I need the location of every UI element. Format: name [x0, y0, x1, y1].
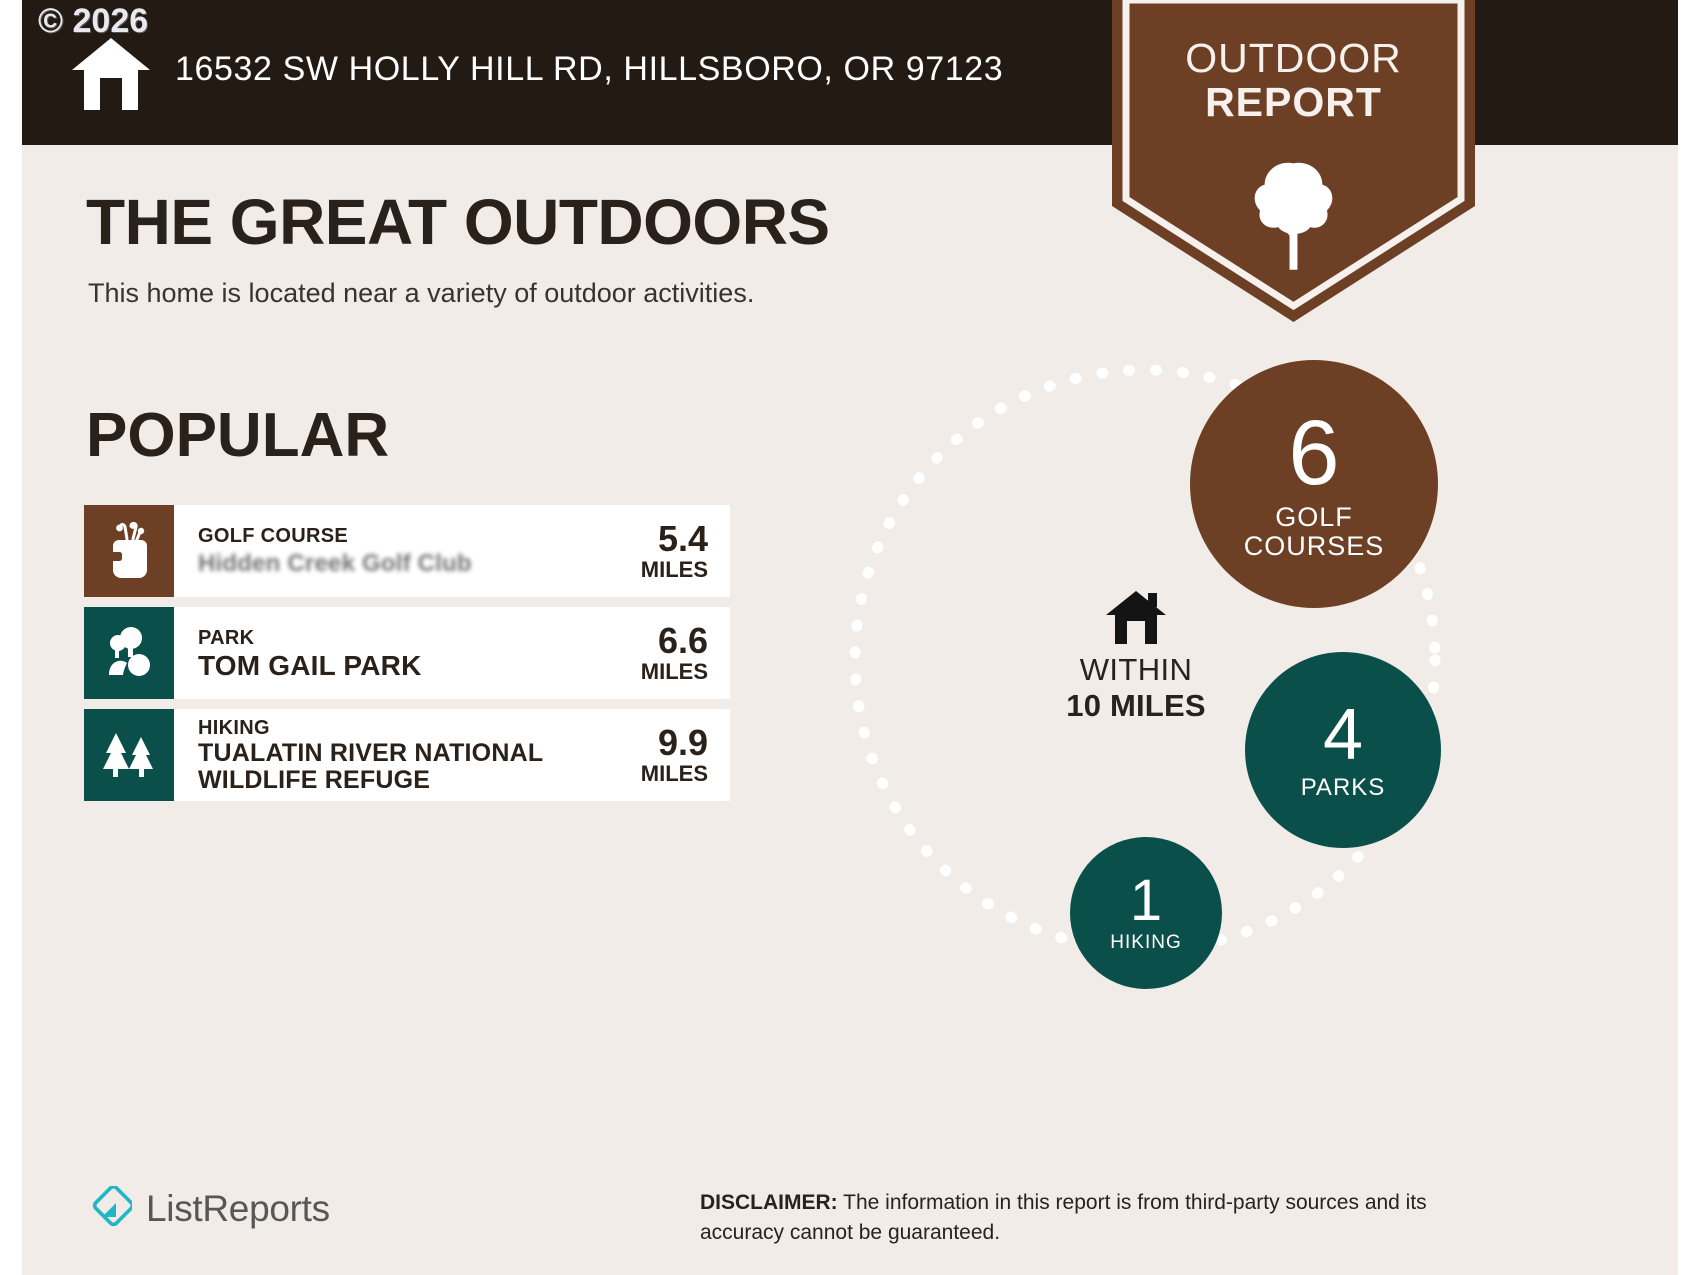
disclaimer-label: DISCLAIMER: — [700, 1191, 838, 1214]
page-margin-left — [0, 0, 22, 1275]
stat-bubble-golf-courses[interactable]: 6 GOLF COURSES — [1190, 360, 1438, 608]
list-item-name: TOM GAIL PARK — [198, 650, 422, 681]
list-item-distance: 6.6 MILES — [588, 607, 730, 699]
list-item-name-redacted: Hidden Creek Golf Club — [198, 548, 472, 579]
list-item-text: HIKING TUALATIN RIVER NATIONAL WILDLIFE … — [174, 709, 588, 801]
listreports-logo[interactable]: ListReports — [86, 1186, 330, 1232]
distance-unit: MILES — [588, 660, 708, 684]
golf-bag-icon — [84, 505, 174, 597]
list-item-category: PARK — [198, 626, 422, 650]
distance-value: 5.4 — [588, 520, 708, 558]
outdoor-report-page: © 2026 16532 SW HOLLY HILL RD, HILLSBORO… — [0, 0, 1700, 1275]
listreports-logo-text: ListReports — [146, 1188, 330, 1230]
list-item[interactable]: PARK TOM GAIL PARK 6.6 MILES — [84, 607, 730, 699]
home-icon — [1105, 590, 1167, 646]
stat-label: HIKING — [1110, 933, 1181, 954]
section-title-popular: POPULAR — [86, 400, 389, 471]
page-title: THE GREAT OUTDOORS — [86, 185, 830, 259]
stat-label-line1: GOLF — [1244, 503, 1385, 532]
distance-value: 6.6 — [588, 622, 708, 660]
popular-places-list: GOLF COURSE Hidden Creek Golf Club 5.4 M… — [84, 505, 730, 811]
distance-unit: MILES — [588, 762, 708, 786]
outdoor-report-badge: OUTDOOR REPORT — [1112, 0, 1475, 322]
page-margin-right — [1678, 0, 1700, 1275]
list-item-text: GOLF COURSE Hidden Creek Golf Club — [174, 505, 588, 597]
center-label-line2: 10 MILES — [1016, 688, 1256, 724]
home-icon — [70, 36, 152, 112]
listreports-house-icon — [86, 1186, 132, 1232]
within-10-miles-infographic: 6 GOLF COURSES 4 PARKS 1 HIKING WITHIN 1… — [820, 340, 1520, 1020]
badge-title: OUTDOOR REPORT — [1112, 36, 1475, 124]
center-label-line1: WITHIN — [1016, 652, 1256, 688]
copyright-watermark: © 2026 — [38, 2, 148, 41]
list-item-category: HIKING — [198, 716, 588, 740]
stat-label: PARKS — [1301, 775, 1386, 801]
list-item-text: PARK TOM GAIL PARK — [174, 607, 588, 699]
disclaimer: DISCLAIMER: The information in this repo… — [700, 1188, 1500, 1248]
infographic-center-label: WITHIN 10 MILES — [1016, 590, 1256, 724]
stat-label-line2: COURSES — [1244, 532, 1385, 561]
badge-title-line1: OUTDOOR — [1112, 36, 1475, 80]
stat-count: 1 — [1130, 872, 1162, 930]
list-item[interactable]: HIKING TUALATIN RIVER NATIONAL WILDLIFE … — [84, 709, 730, 801]
page-subtitle: This home is located near a variety of o… — [88, 278, 754, 309]
stat-count: 4 — [1323, 699, 1363, 771]
pine-trees-icon — [84, 709, 174, 801]
stat-bubble-parks[interactable]: 4 PARKS — [1245, 652, 1441, 848]
stat-count: 6 — [1288, 407, 1339, 499]
stat-bubble-hiking[interactable]: 1 HIKING — [1070, 837, 1222, 989]
stat-label: GOLF COURSES — [1244, 503, 1385, 561]
list-item-distance: 5.4 MILES — [588, 505, 730, 597]
list-item-distance: 9.9 MILES — [588, 709, 730, 801]
park-trees-icon — [84, 607, 174, 699]
property-address: 16532 SW HOLLY HILL RD, HILLSBORO, OR 97… — [175, 50, 1003, 89]
distance-unit: MILES — [588, 558, 708, 582]
list-item-category: GOLF COURSE — [198, 524, 472, 548]
list-item[interactable]: GOLF COURSE Hidden Creek Golf Club 5.4 M… — [84, 505, 730, 597]
list-item-name: TUALATIN RIVER NATIONAL WILDLIFE REFUGE — [198, 740, 588, 794]
distance-value: 9.9 — [588, 724, 708, 762]
badge-title-line2: REPORT — [1112, 80, 1475, 124]
